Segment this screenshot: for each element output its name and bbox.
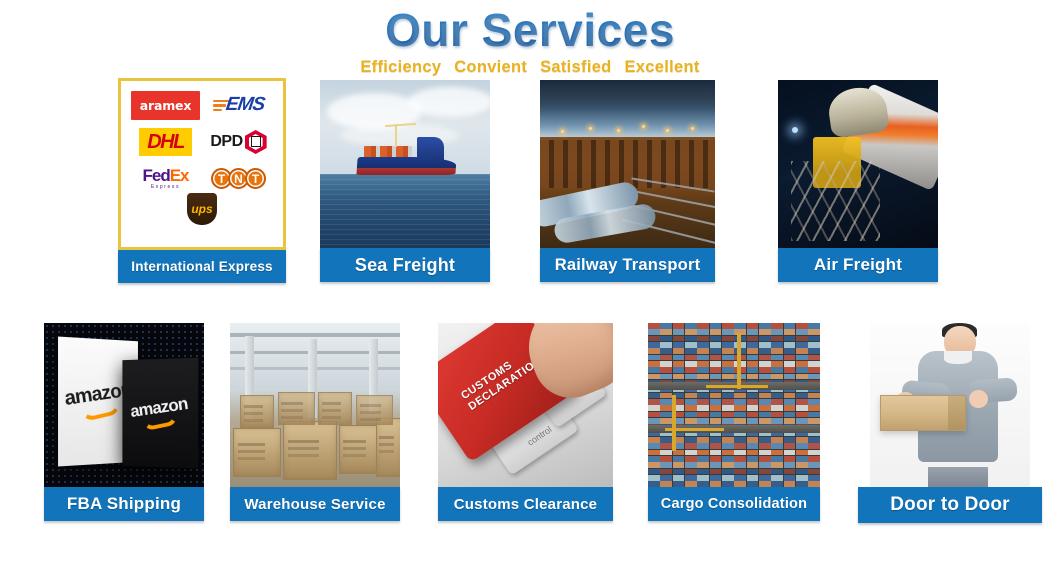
service-card-cargo-consolidation[interactable]: Cargo Consolidation [648, 323, 820, 521]
subtitle-word-satisfied: Satisfied [540, 58, 611, 76]
dpd-hexagon-icon [245, 130, 267, 154]
subtitle-word-efficiency: Efficiency [360, 58, 441, 76]
amazon-logo-light: amazon [129, 394, 190, 431]
dhl-icon: DHL [139, 128, 192, 156]
ups-icon: ups [187, 193, 217, 225]
courier-logos-panel: aramex EMS DHL DPD [118, 78, 286, 250]
card-label-railway-transport[interactable]: Railway Transport [540, 248, 715, 282]
service-card-international-express[interactable]: aramex EMS DHL DPD [118, 78, 286, 283]
railway-photo [540, 80, 715, 248]
card-label-cargo-consolidation[interactable]: Cargo Consolidation [648, 487, 820, 521]
card-label-door-to-door[interactable]: Door to Door [858, 487, 1042, 523]
fedex-ex-text: Ex [170, 166, 189, 185]
subtitle-word-excellent: Excellent [624, 58, 699, 76]
card-label-sea-freight[interactable]: Sea Freight [320, 248, 490, 282]
card-label-air-freight[interactable]: Air Freight [778, 248, 938, 282]
service-card-customs-clearance[interactable]: alt control CUSTOMS DECLARATION Customs … [438, 323, 613, 521]
dpd-logo-cell: DPD [210, 130, 266, 154]
page-subtitle: Efficiency Convient Satisfied Excellent [0, 58, 1060, 77]
fedex-icon: FedEx Express [142, 167, 188, 190]
amazon-black-panel: amazon [122, 358, 198, 469]
aramex-icon: aramex [131, 91, 200, 120]
dpd-wordmark: DPD [210, 133, 242, 151]
sea-freight-photo [320, 80, 490, 248]
fedex-logo-cell: FedEx Express [142, 167, 188, 190]
fba-photo: amazon amazon [44, 323, 204, 487]
service-card-sea-freight[interactable]: Sea Freight [320, 80, 490, 282]
dhl-logo-cell: DHL [139, 128, 192, 156]
express-logo-box: aramex EMS DHL DPD [118, 78, 286, 250]
customs-photo: alt control CUSTOMS DECLARATION [438, 323, 613, 487]
ems-icon: EMS [213, 94, 264, 116]
rail-yard-scene [540, 80, 715, 248]
card-label-international-express[interactable]: International Express [118, 250, 286, 283]
subtitle-word-convient: Convient [454, 58, 527, 76]
card-label-warehouse-service[interactable]: Warehouse Service [230, 487, 400, 521]
keyboard-scene: alt control CUSTOMS DECLARATION [438, 323, 613, 487]
amazon-panels-scene: amazon amazon [44, 323, 204, 487]
warehouse-scene [230, 323, 400, 487]
container-yard-scene [648, 323, 820, 487]
ems-wordmark: EMS [224, 94, 265, 116]
air-freight-photo [778, 80, 938, 248]
dpd-icon: DPD [210, 130, 266, 154]
page-header: Our Services Efficiency Convient Satisfi… [0, 0, 1060, 77]
tnt-icon: T N T [211, 168, 266, 189]
cargo-consolidation-photo [648, 323, 820, 487]
aramex-logo-cell: aramex [131, 91, 200, 120]
tnt-logo-cell: T N T [211, 168, 266, 189]
service-card-air-freight[interactable]: Air Freight [778, 80, 938, 282]
fedex-express-text: Express [142, 185, 188, 190]
parcel-box-icon [880, 395, 966, 431]
warehouse-photo [230, 323, 400, 487]
courier-logo-grid: aramex EMS DHL DPD [121, 81, 283, 247]
card-label-customs-clearance[interactable]: Customs Clearance [438, 487, 613, 521]
service-card-door-to-door[interactable]: Door to Door [858, 323, 1042, 521]
door-to-door-photo [870, 323, 1030, 487]
card-label-fba-shipping[interactable]: FBA Shipping [44, 487, 204, 521]
service-card-railway-transport[interactable]: Railway Transport [540, 80, 715, 282]
courier-person-scene [870, 323, 1030, 487]
services-page: Our Services Efficiency Convient Satisfi… [0, 0, 1060, 566]
service-card-warehouse-service[interactable]: Warehouse Service [230, 323, 400, 521]
fedex-fed-text: Fed [142, 166, 169, 185]
service-card-fba-shipping[interactable]: amazon amazon FBA Shipping [44, 323, 204, 521]
page-title: Our Services [0, 0, 1060, 56]
tnt-letter-3: T [245, 168, 266, 189]
ems-logo-cell: EMS [213, 94, 264, 116]
cargo-ship-scene [320, 80, 490, 248]
cargo-plane-scene [778, 80, 938, 248]
